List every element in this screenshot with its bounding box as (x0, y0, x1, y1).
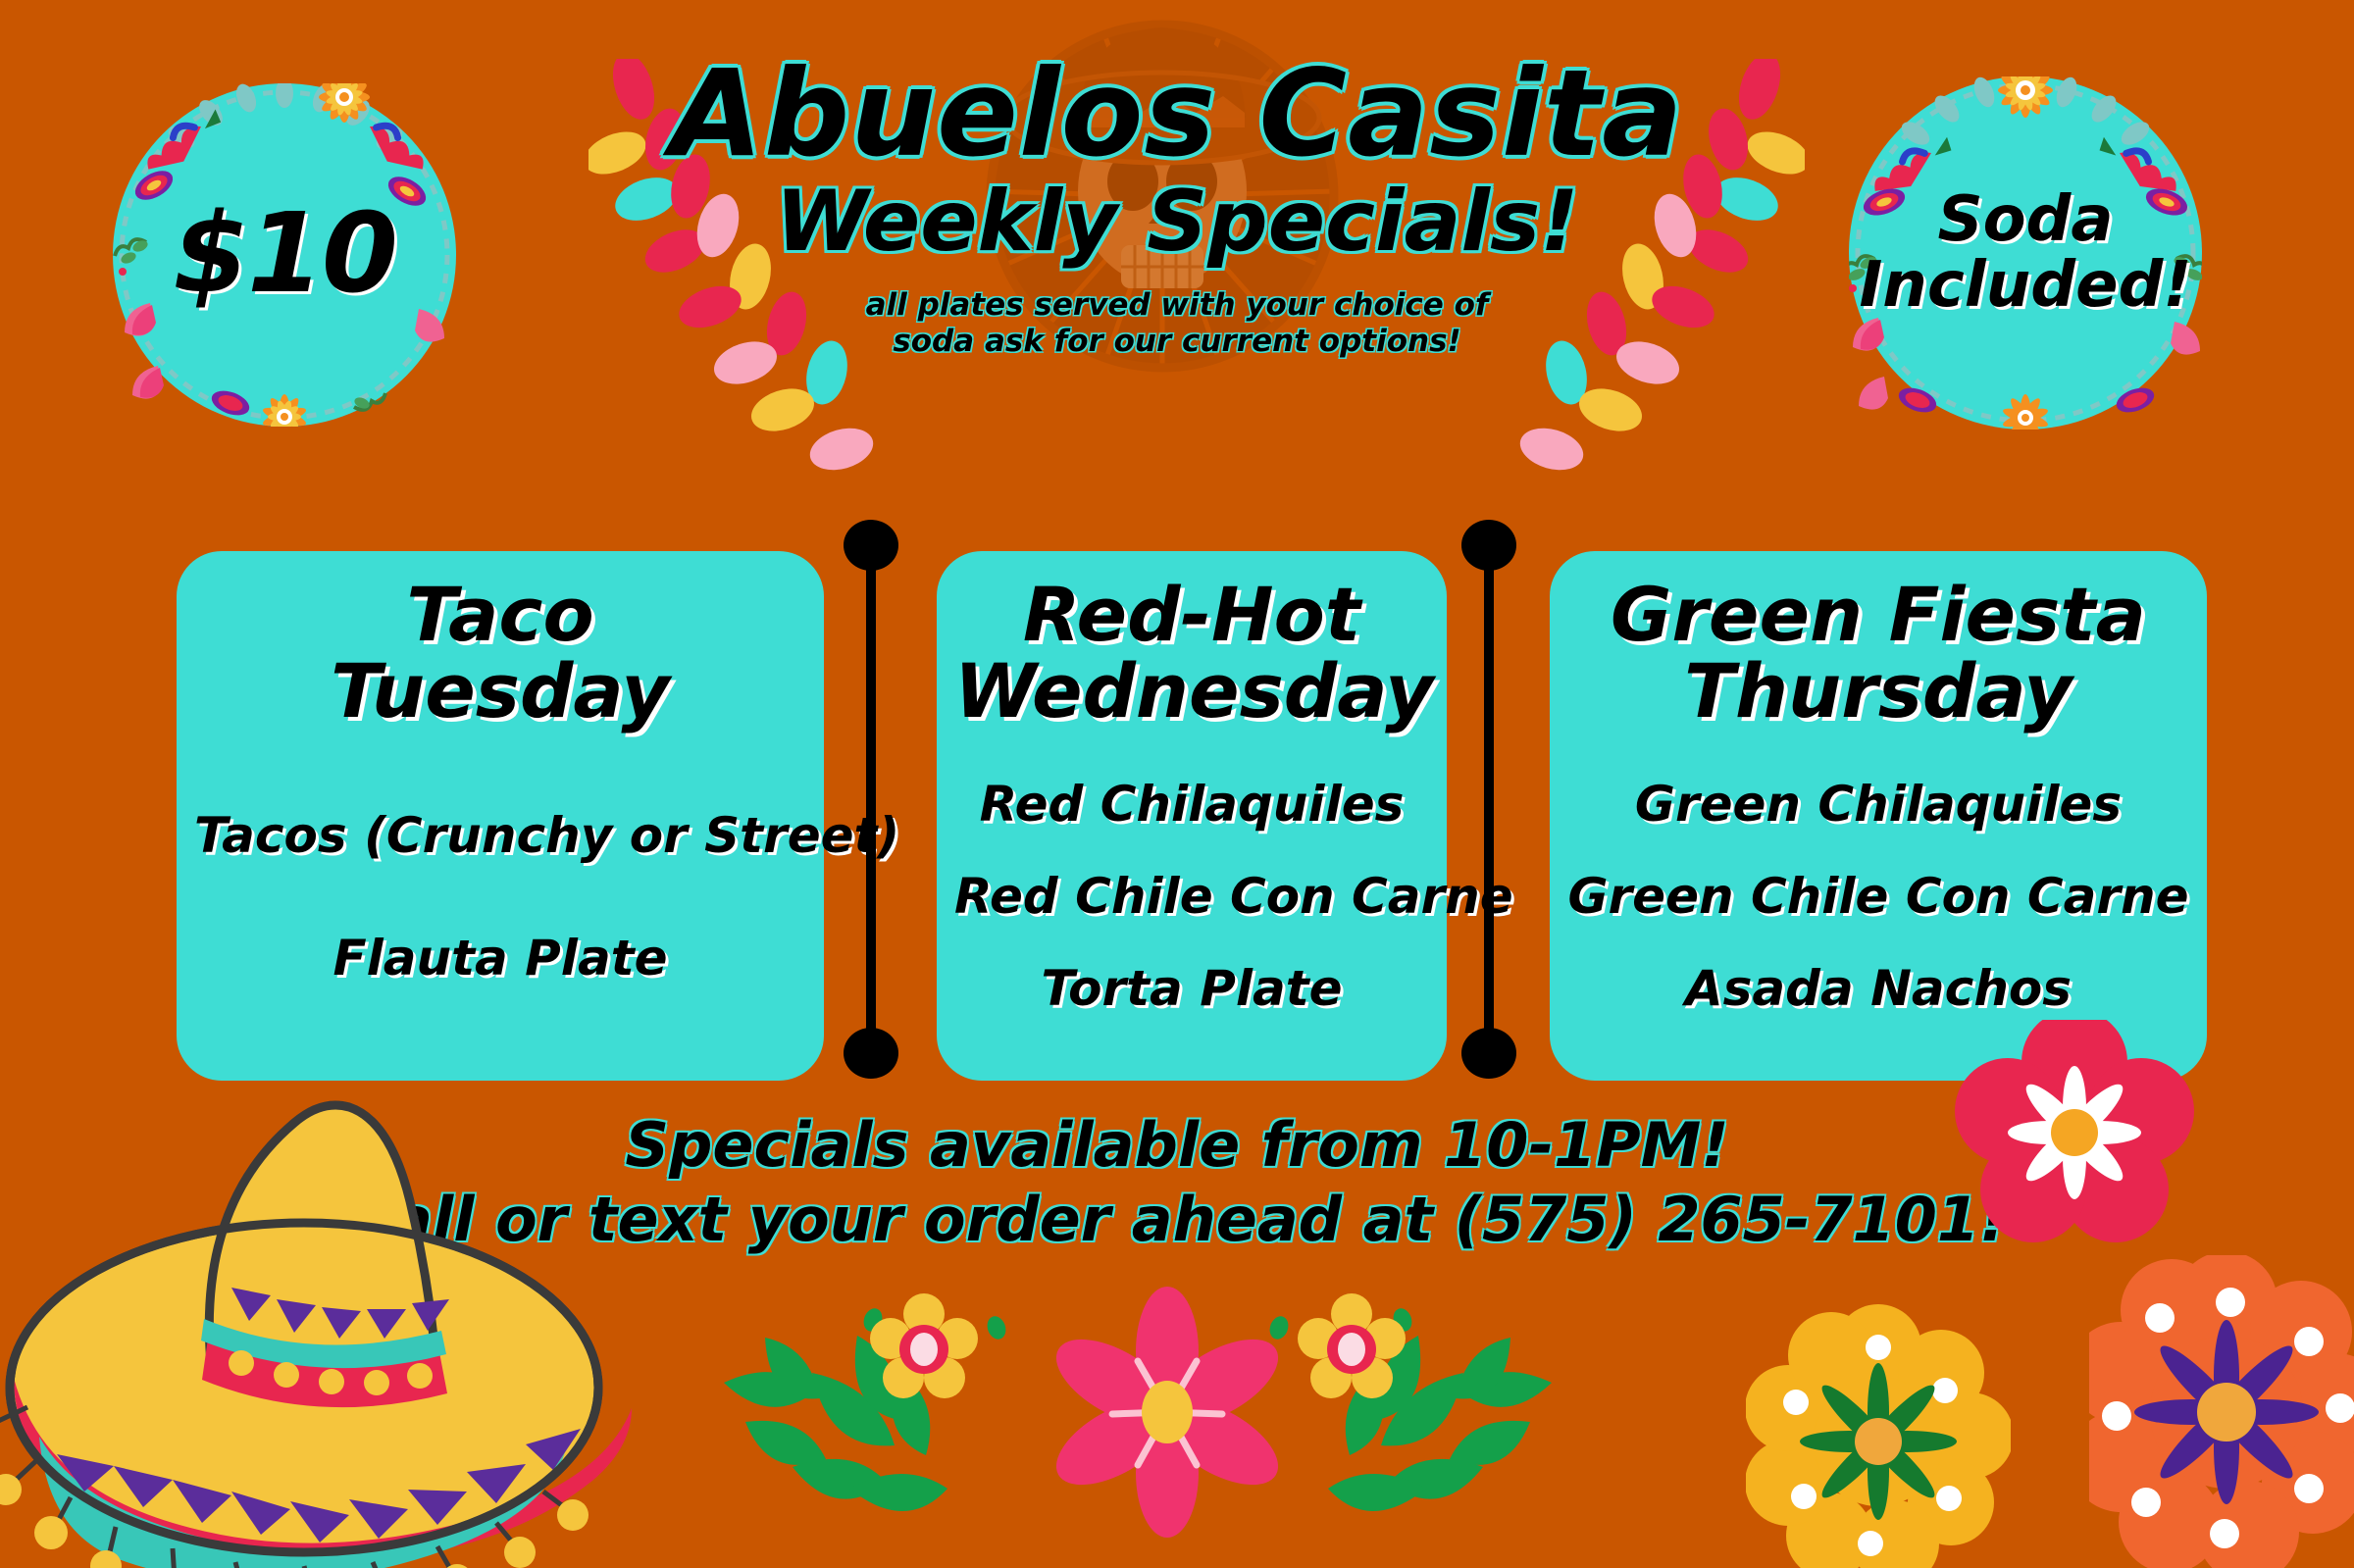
special-card-taco-tuesday[interactable]: Taco Tuesday Tacos (Crunchy or Street) F… (177, 551, 824, 1081)
special-card-red-hot-wednesday[interactable]: Red-Hot Wednesday Red Chilaquiles Red Ch… (937, 551, 1447, 1081)
yellow-dotted-flower-icon (1746, 1304, 2011, 1568)
sombrero-illustration-icon (0, 1025, 657, 1568)
menu-item: Tacos (Crunchy or Street) (194, 810, 806, 862)
divider-cap-bottom (1461, 1028, 1516, 1079)
divider-bar (866, 545, 876, 1053)
special-card-green-fiesta-thursday[interactable]: Green Fiesta Thursday Green Chilaquiles … (1550, 551, 2207, 1081)
card-title: Red-Hot Wednesday (954, 577, 1429, 729)
card-item-list: Green Chilaquiles Green Chile Con Carne … (1567, 738, 2189, 1061)
divider-cap-bottom (844, 1028, 898, 1079)
card-item-list: Tacos (Crunchy or Street) Flauta Plate (194, 738, 806, 1061)
specials-card-group: Taco Tuesday Tacos (Crunchy or Street) F… (0, 551, 2354, 1081)
menu-item: Flauta Plate (194, 933, 806, 985)
brand-subtitle: Weekly Specials! (0, 179, 2354, 264)
poster-canvas: $10 (0, 0, 2354, 1568)
menu-item: Green Chile Con Carne (1567, 871, 2189, 923)
brand-note-line-2: soda ask for our current options! (0, 324, 2354, 360)
orange-dotted-flower-icon (2089, 1255, 2354, 1568)
floral-vine-motif-icon (706, 1275, 1569, 1568)
card-item-list: Red Chilaquiles Red Chile Con Carne Tort… (954, 738, 1429, 1061)
menu-item: Red Chilaquiles (954, 779, 1429, 831)
card-title: Taco Tuesday (194, 577, 806, 729)
divider-bar (1484, 545, 1494, 1053)
card-title: Green Fiesta Thursday (1567, 577, 2189, 729)
brand-note: all plates served with your choice of so… (0, 287, 2354, 359)
brand-title: Abuelos Casita (0, 54, 2354, 174)
vertical-dumbbell-divider-icon (844, 520, 898, 1079)
menu-item: Green Chilaquiles (1567, 779, 2189, 831)
crimson-daisy-flower-icon (1952, 1020, 2197, 1245)
vertical-dumbbell-divider-icon (1461, 520, 1516, 1079)
poster-header: Abuelos Casita Weekly Specials! all plat… (0, 54, 2354, 359)
menu-item: Red Chile Con Carne (954, 871, 1429, 923)
menu-item: Asada Nachos (1567, 963, 2189, 1015)
menu-item: Torta Plate (954, 963, 1429, 1015)
brand-note-line-1: all plates served with your choice of (0, 287, 2354, 324)
